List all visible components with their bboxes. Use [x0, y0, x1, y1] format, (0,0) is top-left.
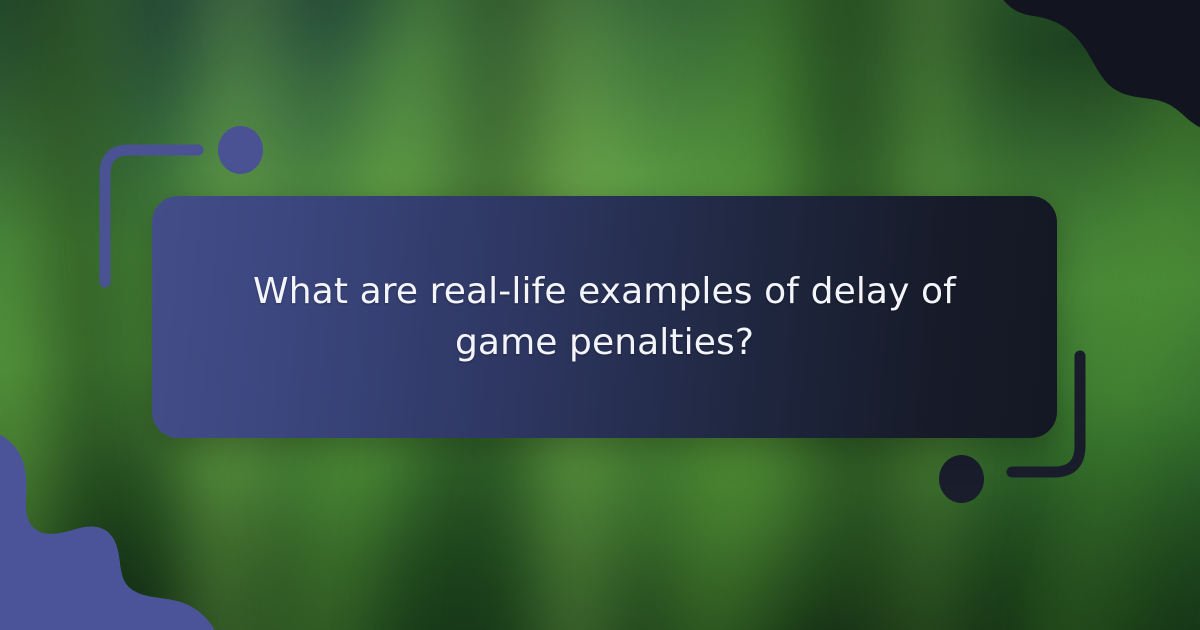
accent-dot-top-left	[218, 126, 263, 174]
card-title: What are real-life examples of delay of …	[225, 266, 985, 368]
organic-blob-bottom-left	[0, 432, 228, 630]
question-card: What are real-life examples of delay of …	[152, 196, 1057, 438]
accent-dot-bottom-right	[939, 455, 984, 503]
share-card-canvas: What are real-life examples of delay of …	[0, 0, 1200, 630]
organic-blob-top-right	[982, 0, 1200, 146]
